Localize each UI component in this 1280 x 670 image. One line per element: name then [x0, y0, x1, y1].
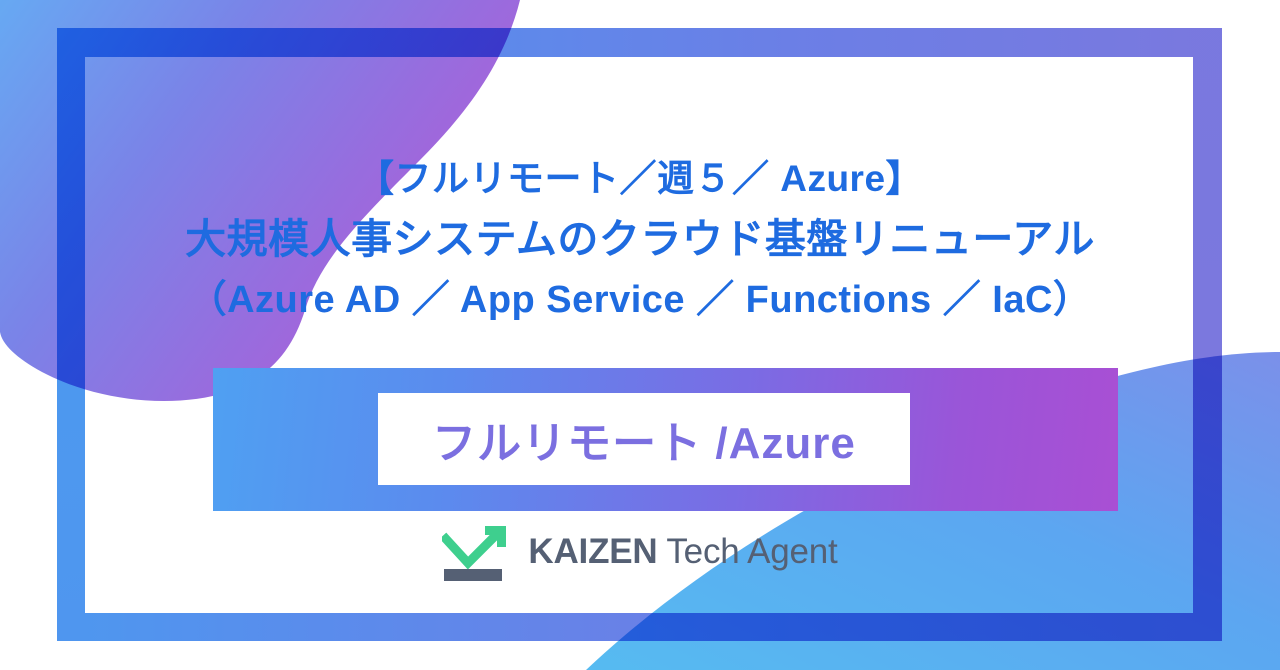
banner-canvas: 【フルリモート／週５／ Azure】 大規模人事システムのクラウド基盤リニューア…	[0, 0, 1280, 670]
brand-suffix: Tech Agent	[657, 532, 837, 571]
title-line-1: 【フルリモート／週５／ Azure】	[0, 150, 1280, 208]
title-line-2: 大規模人事システムのクラウド基盤リニューアル	[0, 208, 1280, 270]
kaizen-growth-arrow-icon	[442, 522, 514, 584]
brand-logo: KAIZEN Tech Agent	[0, 522, 1280, 584]
badge-inner-card: フルリモート /Azure	[378, 393, 910, 485]
brand-name: KAIZEN	[528, 532, 657, 571]
content-layer: 【フルリモート／週５／ Azure】 大規模人事システムのクラウド基盤リニューア…	[0, 0, 1280, 670]
badge-label: フルリモート /Azure	[432, 407, 856, 471]
brand-logo-text: KAIZEN Tech Agent	[528, 532, 837, 574]
title-line-3: （Azure AD ／ App Service ／ Functions ／ Ia…	[0, 270, 1280, 330]
page-title: 【フルリモート／週５／ Azure】 大規模人事システムのクラウド基盤リニューア…	[0, 150, 1280, 330]
